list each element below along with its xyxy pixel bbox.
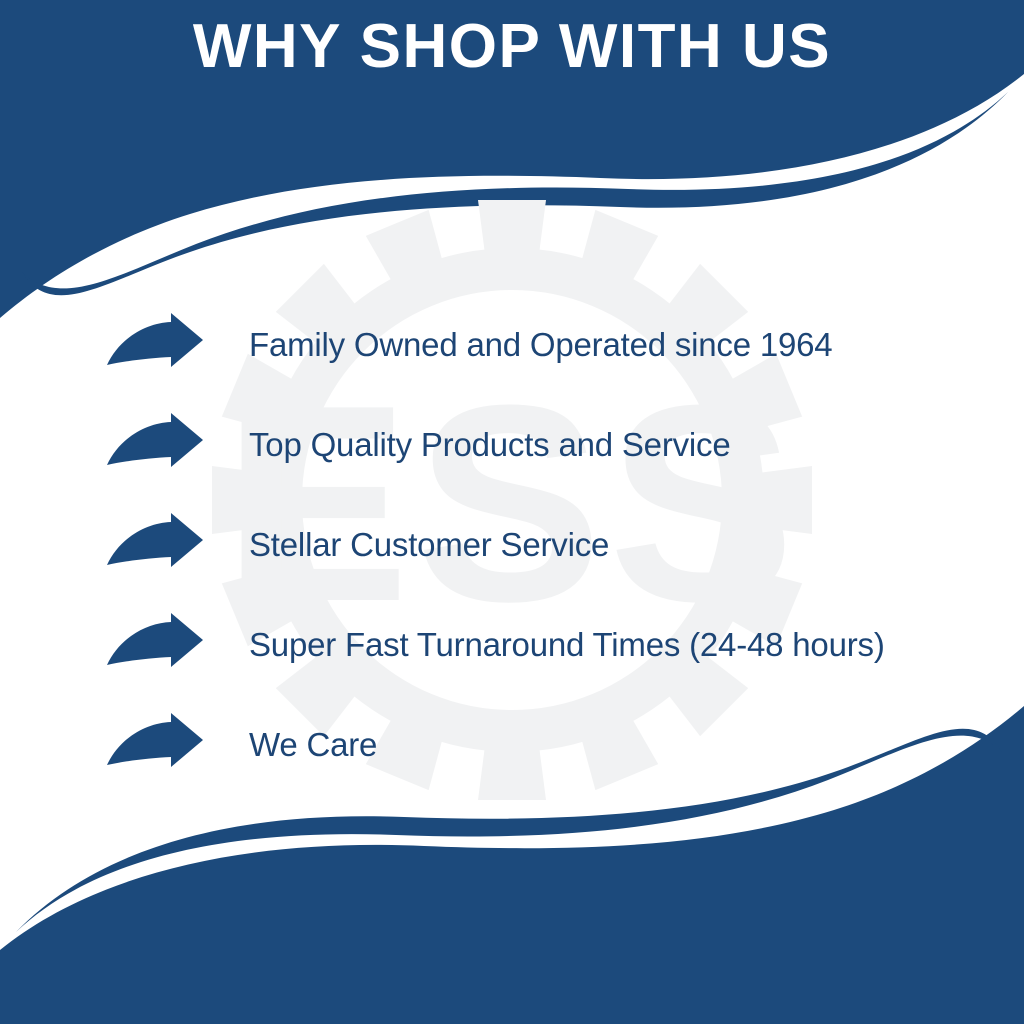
list-item: Family Owned and Operated since 1964	[105, 294, 1005, 394]
curved-arrow-right-icon	[105, 713, 205, 775]
curved-arrow-right-icon	[105, 613, 205, 675]
benefits-list: Family Owned and Operated since 1964 Top…	[105, 294, 1005, 794]
list-item-label: Top Quality Products and Service	[249, 428, 1005, 461]
curved-arrow-right-icon	[105, 313, 205, 375]
list-item: Super Fast Turnaround Times (24-48 hours…	[105, 594, 1005, 694]
list-item-label: We Care	[249, 728, 1005, 761]
list-item: Stellar Customer Service	[105, 494, 1005, 594]
list-item-label: Super Fast Turnaround Times (24-48 hours…	[249, 628, 1005, 661]
promo-graphic: ESS WHY SHOP WITH US Family Owned and Op…	[0, 0, 1024, 1024]
list-item: We Care	[105, 694, 1005, 794]
page-title: WHY SHOP WITH US	[0, 8, 1024, 86]
list-item-label: Family Owned and Operated since 1964	[249, 328, 1005, 361]
list-item: Top Quality Products and Service	[105, 394, 1005, 494]
curved-arrow-right-icon	[105, 513, 205, 575]
list-item-label: Stellar Customer Service	[249, 528, 1005, 561]
curved-arrow-right-icon	[105, 413, 205, 475]
